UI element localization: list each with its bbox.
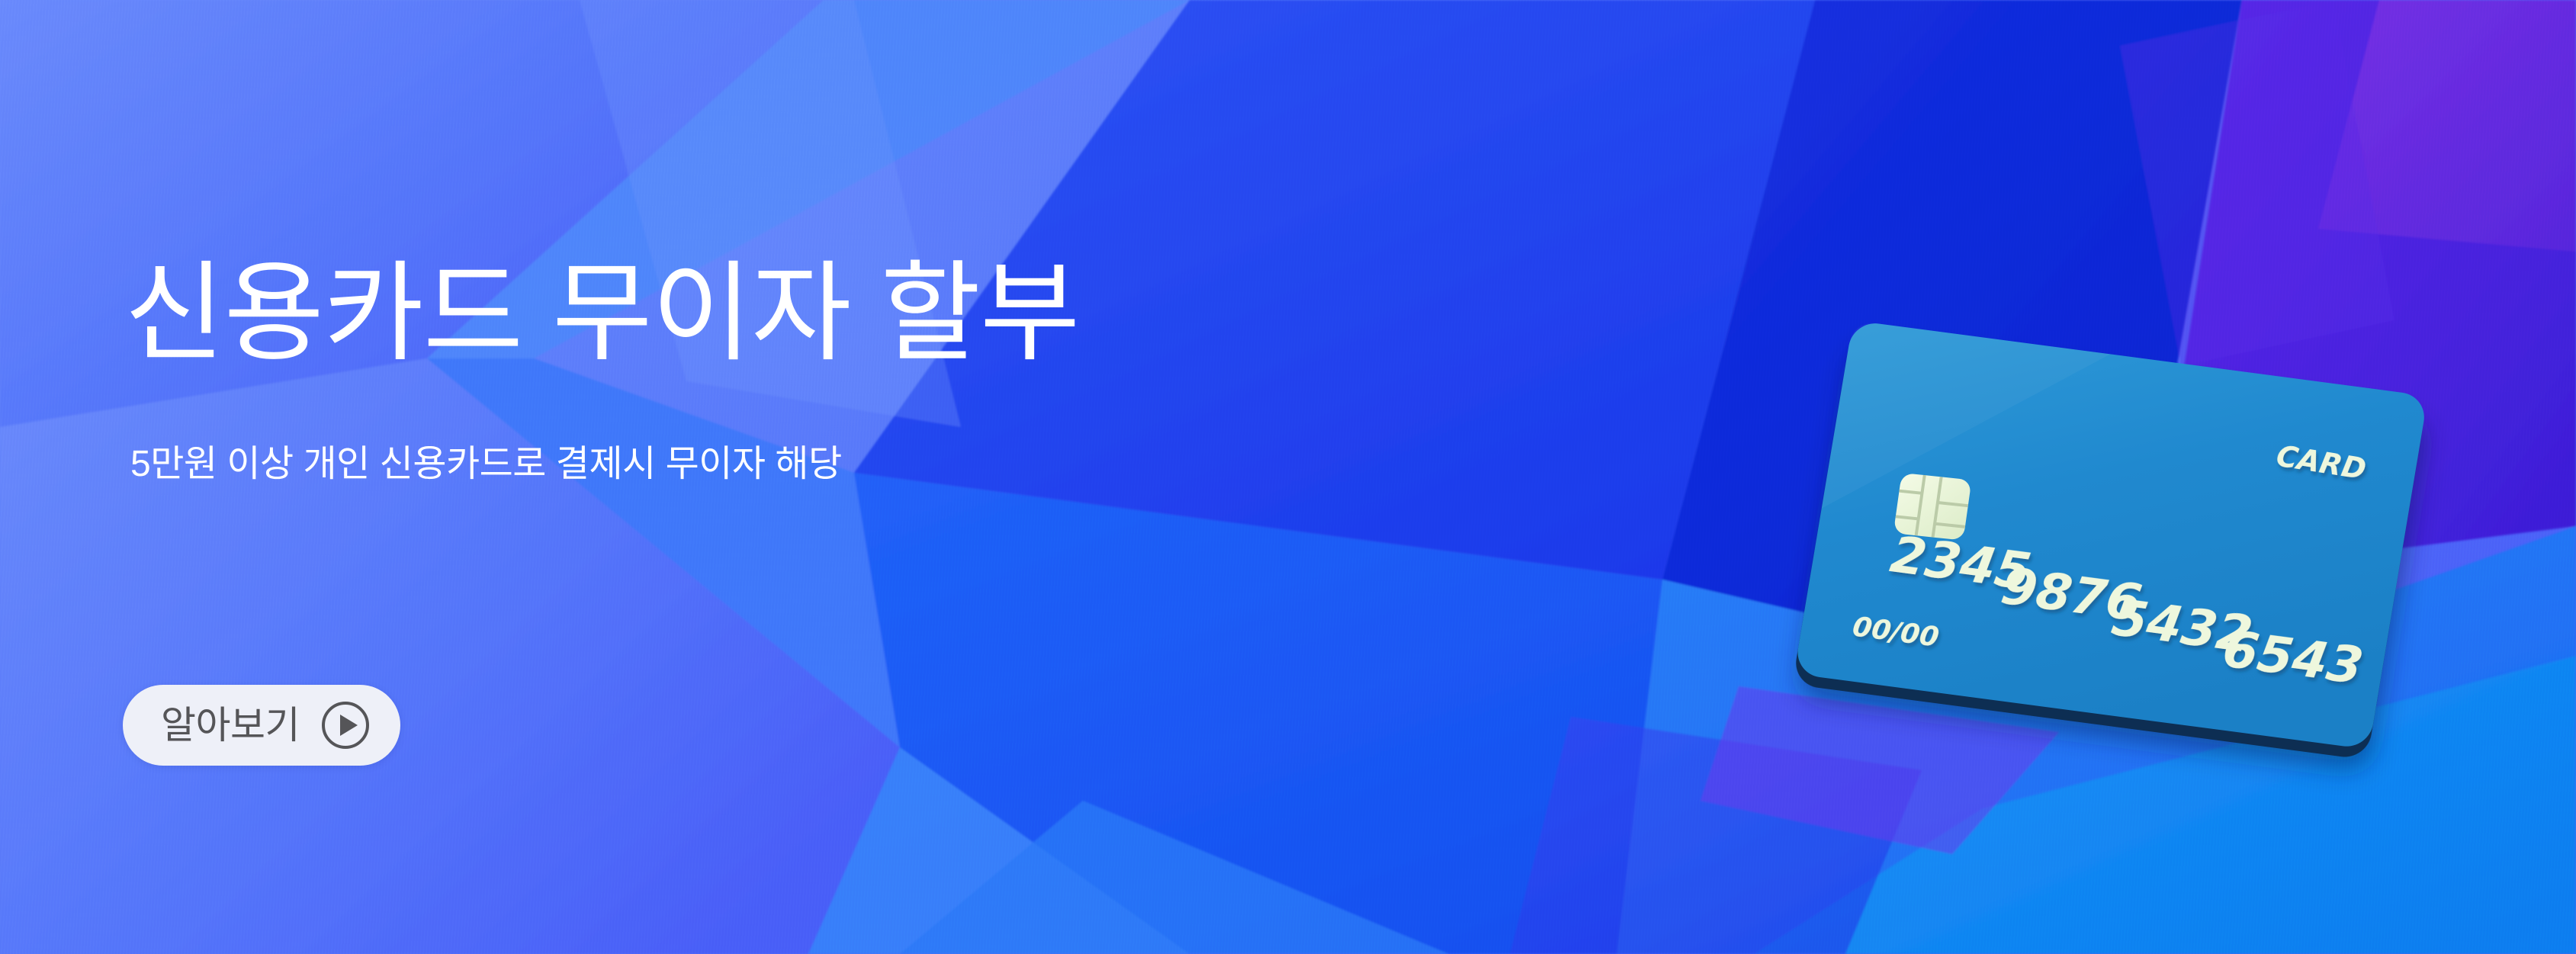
- page-title: 신용카드 무이자 할부: [124, 259, 1497, 368]
- learn-more-label: 알아보기: [161, 706, 300, 744]
- banner-copy: 신용카드 무이자 할부 5만원 이상 개인 신용카드로 결제시 무이자 해당: [124, 259, 1497, 483]
- play-circle-icon: [321, 701, 370, 750]
- credit-card-illustration: CARD 2345 9876 5432 6543 00/00: [1739, 229, 2517, 839]
- learn-more-button[interactable]: 알아보기: [123, 685, 400, 766]
- promo-banner: CARD 2345 9876 5432 6543 00/00 신용카드 무이자 …: [0, 0, 2576, 954]
- banner-subtitle: 5만원 이상 개인 신용카드로 결제시 무이자 해당: [124, 368, 1497, 483]
